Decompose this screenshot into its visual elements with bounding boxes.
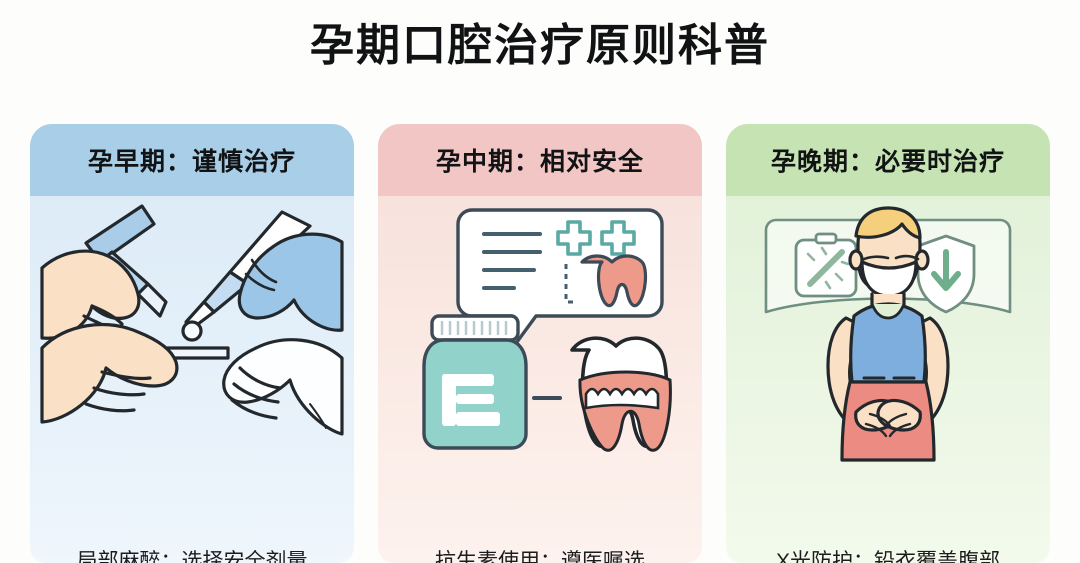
card-body-third-trimester: X光防护：铅衣覆盖腹部 (726, 196, 1050, 563)
card-header-first-trimester: 孕早期：谨慎治疗 (30, 124, 354, 196)
medicine-bottle-icon (424, 316, 526, 448)
tooth-icon (572, 338, 670, 450)
card-first-trimester[interactable]: 孕早期：谨慎治疗 (30, 124, 354, 563)
card-header-second-trimester: 孕中期：相对安全 (378, 124, 702, 196)
caption-third-trimester: X光防护：铅衣覆盖腹部 (740, 548, 1036, 563)
illustration-antibiotics (390, 198, 690, 460)
card-body-second-trimester: 抗生素使用：遵医嘱选 孕期安全药物 (378, 196, 702, 563)
xray-panel-icon (796, 234, 856, 296)
hand-bare-lower-right-icon (224, 340, 342, 434)
card-body-first-trimester: 局部麻醉：选择安全剂量 (30, 196, 354, 563)
card-second-trimester[interactable]: 孕中期：相对安全 (378, 124, 702, 563)
illustration-xray-protection (738, 198, 1038, 460)
card-header-third-trimester: 孕晚期：必要时治疗 (726, 124, 1050, 196)
infographic-page: 孕期口腔治疗原则科普 孕早期：谨慎治疗 (0, 0, 1080, 563)
caption-first-trimester: 局部麻醉：选择安全剂量 (44, 548, 340, 563)
illustration-hands-anesthesia (42, 198, 342, 460)
card-third-trimester[interactable]: 孕晚期：必要时治疗 (726, 124, 1050, 563)
hand-bare-lower-left-icon (42, 325, 177, 422)
page-title: 孕期口腔治疗原则科普 (0, 20, 1080, 73)
caption-second-trimester: 抗生素使用：遵医嘱选 孕期安全药物 (392, 548, 688, 563)
cards-row: 孕早期：谨慎治疗 (30, 124, 1050, 563)
